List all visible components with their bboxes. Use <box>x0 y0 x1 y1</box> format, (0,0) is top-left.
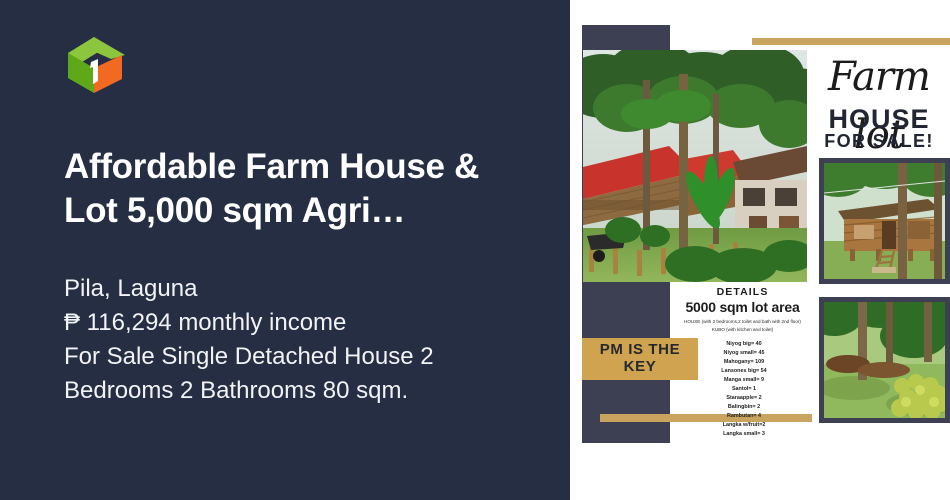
inventory-item: Langka w/fruit=2 <box>678 421 810 430</box>
listing-price: ₱ 116,294 monthly income <box>64 306 544 340</box>
listing-description: For Sale Single Detached House 2 Bedroom… <box>64 340 544 408</box>
inventory-item: Lansones big= 54 <box>678 367 810 376</box>
listing-location: Pila, Laguna <box>64 272 544 306</box>
inventory-item: Niyog big= 40 <box>678 340 810 349</box>
inventory-item: Manga small= 9 <box>678 376 810 385</box>
details-heading: DETAILS <box>670 286 815 298</box>
house-logo-icon[interactable] <box>64 33 128 95</box>
inventory-item: Santol= 1 <box>678 385 810 394</box>
flyer-subheadline: FOR SALE! <box>808 131 950 152</box>
inventory-item: Langka small= 3 <box>678 430 810 439</box>
inventory-item: Staraapple= 2 <box>678 394 810 403</box>
page-title: Affordable Farm House & Lot 5,000 sqm Ag… <box>64 145 534 233</box>
inventory-item: Mahogany= 109 <box>678 358 810 367</box>
listing-card: Affordable Farm House & Lot 5,000 sqm Ag… <box>0 0 950 500</box>
coconut-harvest-photo <box>819 297 950 423</box>
bamboo-hut-photo <box>819 158 950 284</box>
inventory-item: Niyog small= 45 <box>678 349 810 358</box>
inventory-item: Rambutan= 4 <box>678 412 810 421</box>
details-note-kubo: KUBO (with kitchen and toilet) <box>670 327 815 334</box>
listing-info-panel: Affordable Farm House & Lot 5,000 sqm Ag… <box>0 0 570 500</box>
flyer-script-headline: Farm lot <box>808 48 950 106</box>
listing-flyer-image[interactable]: Farm lot HOUSE FOR SALE! <box>570 0 950 500</box>
listing-meta: Pila, Laguna ₱ 116,294 monthly income Fo… <box>64 272 544 408</box>
details-subheading: 5000 sqm lot area <box>670 299 815 315</box>
farm-house-exterior-photo <box>583 50 807 282</box>
gold-rule-top <box>752 38 950 45</box>
flyer-inventory-list: Niyog big= 40Niyog small= 45Mahogany= 10… <box>678 340 810 439</box>
details-note-house: HOUSE (with 2 bedrooms,2 toilet and bath… <box>670 319 815 326</box>
inventory-item: Balingbin= 2 <box>678 403 810 412</box>
flyer-details-block: DETAILS 5000 sqm lot area HOUSE (with 2 … <box>670 286 815 333</box>
